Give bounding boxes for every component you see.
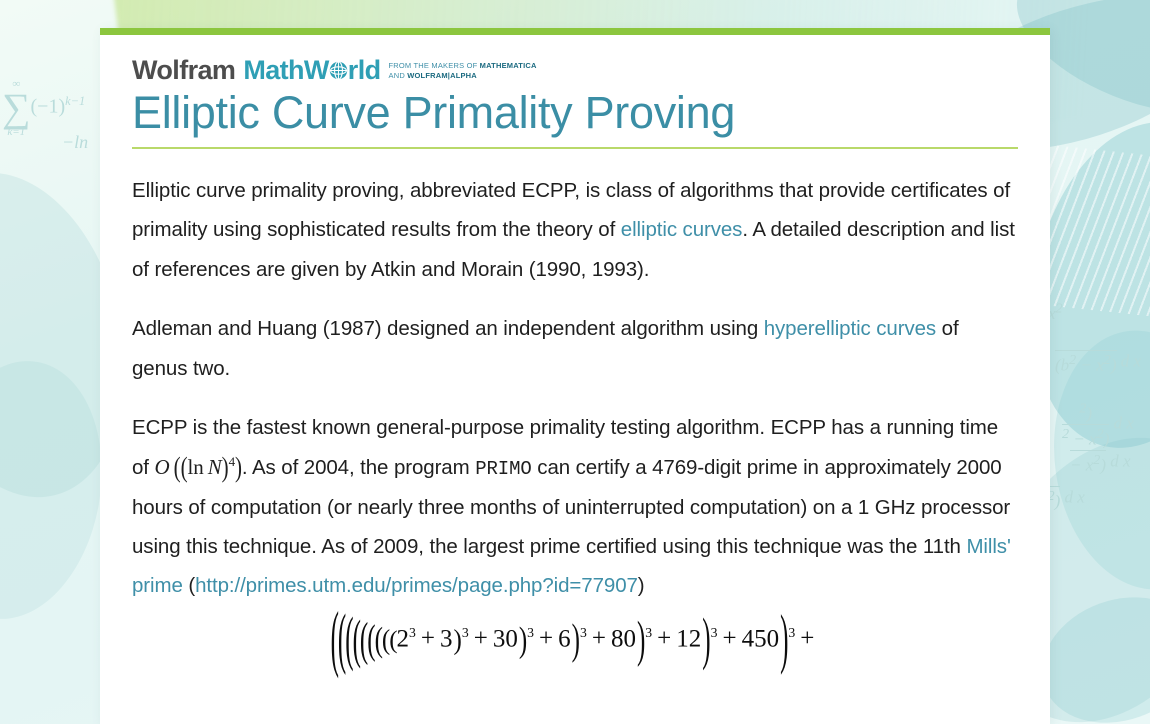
background-summation-watermark: ∞ ∑ k=1 (−1)k−1	[2, 78, 85, 138]
paragraph-intro: Elliptic curve primality proving, abbrev…	[132, 171, 1018, 289]
formula-term: 12	[676, 625, 701, 652]
paragraph-ecpp-text-e: )	[638, 574, 645, 597]
formula-close-exponent: 3	[711, 625, 718, 640]
paragraph-adleman-huang: Adleman and Huang (1987) designed an ind…	[132, 309, 1018, 388]
formula-close-exponent: 3	[527, 625, 534, 640]
formula-term: 3	[440, 625, 453, 652]
formula-base-exponent: 3	[409, 625, 416, 640]
globe-icon	[329, 58, 348, 77]
background-integral-watermark: (b2 − x2) d x	[1055, 350, 1141, 376]
background-integral-watermark: x2	[1048, 300, 1063, 324]
background-ln-watermark: −ln	[62, 132, 88, 153]
formula-close-paren: )	[572, 619, 580, 663]
sum-body: (−1)	[31, 96, 66, 118]
formula-open-paren: (	[389, 628, 397, 653]
formula-term: 450	[742, 625, 780, 652]
formula-plus-operator: +	[722, 625, 736, 652]
formula-plus-operator: +	[474, 625, 488, 652]
paragraph-ecpp-text-b: . As of 2004, the program	[242, 456, 475, 479]
site-logo[interactable]: Wolfram MathW rld FROM THE MAKERS OF MAT…	[132, 57, 1018, 84]
formula-trailing-plus: +	[800, 625, 814, 652]
program-name-primo: PRIMO	[475, 458, 532, 480]
formula-close-paren: )	[702, 611, 710, 670]
logo-w-text: W	[304, 57, 329, 84]
link-elliptic-curves[interactable]: elliptic curves	[621, 218, 743, 241]
logo-rld-text: rld	[348, 57, 381, 84]
sigma-icon: ∑	[2, 90, 31, 126]
title-underline-rule	[132, 147, 1018, 149]
logo-math-text: Math	[243, 57, 304, 84]
formula-close-paren: )	[519, 622, 527, 658]
page-title: Elliptic Curve Primality Proving	[132, 86, 1018, 139]
paragraph-ecpp-performance: ECPP is the fastest known general-purpos…	[132, 408, 1018, 606]
formula-term: 80	[611, 625, 636, 652]
inline-math-running-time: O ((ln N)4)	[155, 455, 242, 479]
sum-body-exponent: k−1	[65, 94, 85, 108]
logo-tagline: FROM THE MAKERS OF MATHEMATICA AND WOLFR…	[389, 61, 537, 84]
logo-tagline-line-2: AND WOLFRAM|ALPHA	[389, 71, 537, 81]
math-ln: ln	[187, 455, 203, 479]
formula-term: 6	[558, 625, 571, 652]
formula-term: 30	[493, 625, 518, 652]
formula-plus-operator: +	[657, 625, 671, 652]
formula-close-paren: )	[454, 626, 462, 655]
formula-plus-operator: +	[592, 625, 606, 652]
tagline-mathematica: MATHEMATICA	[480, 61, 537, 70]
formula-close-exponent: 3	[462, 625, 469, 640]
link-hyperelliptic-curves[interactable]: hyperelliptic curves	[764, 317, 936, 340]
article-panel: Wolfram MathW rld FROM THE MAKERS OF MAT…	[100, 28, 1050, 724]
logo-mathworld-text: MathW rld	[243, 57, 380, 84]
formula-plus-operator: +	[539, 625, 553, 652]
formula-close-exponent: 3	[580, 625, 587, 640]
paragraph-ecpp-text-d: (	[183, 574, 195, 597]
logo-wolfram-text: Wolfram	[132, 57, 235, 84]
background-integral-watermark: 2)2 − x2) d x	[1062, 400, 1134, 449]
math-big-o: O	[155, 455, 170, 479]
formula-base: 2	[397, 625, 410, 652]
link-primes-utm-url[interactable]: http://primes.utm.edu/primes/page.php?id…	[195, 574, 638, 597]
tagline-wolfram-alpha: WOLFRAM|ALPHA	[407, 71, 477, 80]
formula-close-paren: )	[637, 615, 645, 666]
paragraph-adleman-text-a: Adleman and Huang (1987) designed an ind…	[132, 317, 764, 340]
display-formula-nested-cubes: (((((((((23+3)3+30)3+6)3+80)3+12)3+450)3…	[132, 626, 1018, 653]
formula-close-exponent: 3	[788, 625, 795, 640]
math-variable-n: N	[208, 455, 222, 479]
formula-close-exponent: 3	[645, 625, 652, 640]
formula-plus-operator: +	[421, 625, 435, 652]
logo-tagline-line-1: FROM THE MAKERS OF MATHEMATICA	[389, 61, 537, 71]
formula-close-paren: )	[780, 607, 788, 673]
background-integral-watermark: − x2) d x	[1070, 450, 1131, 476]
